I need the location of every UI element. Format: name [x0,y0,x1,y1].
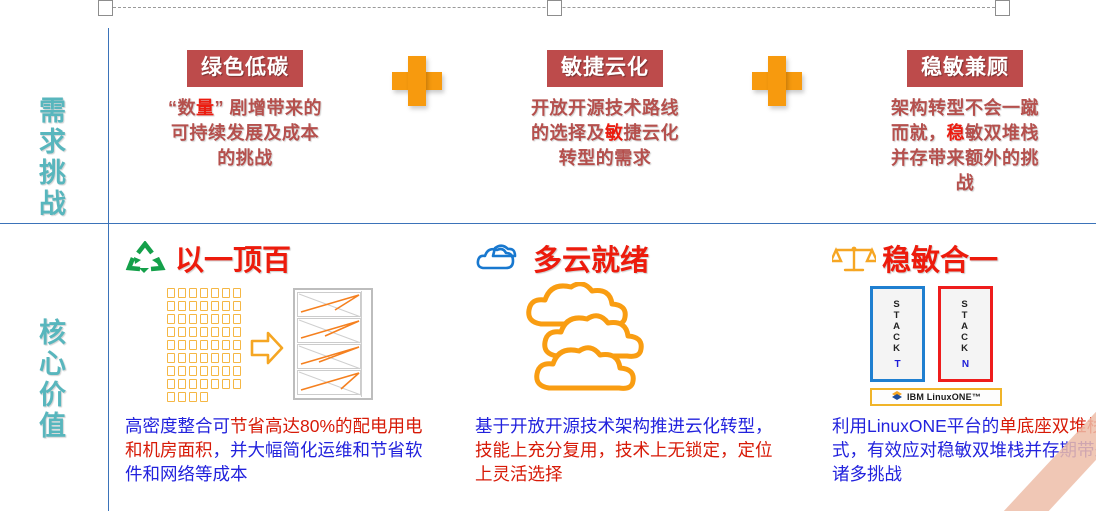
horizontal-divider [0,223,1096,224]
challenge-badge: 稳敏兼顾 [907,50,1023,87]
stack-tag-t: T [873,359,922,370]
stack-char: C [941,332,990,343]
challenge-badge: 敏捷云化 [547,50,663,87]
plus-icon [392,56,442,106]
rail-char: 战 [14,189,92,220]
slide-canvas: 需 求 挑 战 核 心 价 值 绿色低碳 “数量” 剧增带来的可持续发展及成本的… [0,0,1096,511]
stack-box-n: S T A C K N [938,286,993,382]
challenge-badge: 绿色低碳 [187,50,303,87]
rail-char: 求 [14,127,92,158]
value-title: 以一顶百 [175,245,291,277]
stack-char: C [873,332,922,343]
challenge-body: 架构转型不会一蹴而就，稳敏双堆栈并存带来额外的挑战 [885,96,1045,196]
value-heading: 以一顶百 [125,240,425,282]
value-body: 基于开放开源技术架构推进云化转型，技能上充分复用，技术上无锁定，定位上灵活选择 [475,414,775,486]
vertical-divider [108,28,109,511]
rail-char: 值 [14,411,92,442]
rail-label-core-value: 核 心 价 值 [14,318,92,442]
rail-char: 核 [14,318,92,349]
art-dual-stack-linuxone: S T A C K T S T A C K [832,282,1096,406]
body-pre: “数 [168,98,196,118]
selection-bracket[interactable] [98,0,1010,16]
body-highlight: 量 [196,98,215,118]
linuxone-label: IBM LinuxONE™ [907,392,981,402]
stack-char: A [941,321,990,332]
body-highlight: 敏 [605,123,624,143]
value-title: 稳敏合一 [882,245,998,277]
challenge-card-stable-agile: 稳敏兼顾 架构转型不会一蹴而就，稳敏双堆栈并存带来额外的挑战 [885,50,1045,196]
recycle-icon [125,241,169,282]
value-body: 高密度整合可节省高达80%的配电用电和机房面积，并大幅简化运维和节省软件和网络等… [125,414,425,486]
value-card-multicloud: 多云就绪 基于开放开源技术架构推进云化转型，技能上充分复用，技术上无锁定，定位上… [475,240,775,486]
art-server-grid-to-rack [125,282,425,406]
body-pre: 基于开放开源技术架构推进云化转型， [475,416,773,436]
value-card-consolidation: 以一顶百 [125,240,425,486]
arrow-right-icon [250,330,284,366]
stack-label-t: S T A C K [873,299,922,354]
value-card-dual-stack: 稳敏合一 S T A C K T S T [832,240,1096,486]
rail-label-demand-challenge: 需 求 挑 战 [14,96,92,220]
selection-handle-center[interactable] [547,0,562,16]
stack-char: T [941,310,990,321]
selection-handle-left[interactable] [98,0,113,16]
body-pre: 利用LinuxONE平台的 [832,416,999,436]
stack-tag-n: N [941,359,990,370]
rail-char: 需 [14,96,92,127]
balance-scale-icon [832,242,876,281]
selection-handle-right[interactable] [995,0,1010,16]
linuxone-platform-bar: IBM LinuxONE™ [870,388,1002,406]
art-stacked-clouds [475,282,775,406]
challenge-card-green-low-carbon: 绿色低碳 “数量” 剧增带来的可持续发展及成本的挑战 [165,50,325,171]
rail-char: 挑 [14,158,92,189]
plus-icon [752,56,802,106]
value-title: 多云就绪 [533,245,649,277]
server-grid [165,286,242,403]
stack-char: K [873,343,922,354]
body-highlight: 技能上充分复用，技术上无锁定，定位上灵活选择 [475,440,773,484]
challenge-body: “数量” 剧增带来的可持续发展及成本的挑战 [165,96,325,171]
stack-char: T [873,310,922,321]
value-heading: 多云就绪 [475,240,775,282]
body-pre: 高密度整合可 [125,416,230,436]
stack-label-n: S T A C K [941,299,990,354]
cloud-icon [475,242,527,281]
stack-box-t: S T A C K T [870,286,925,382]
value-body: 利用LinuxONE平台的单底座双堆栈模式，有效应对稳敏双堆栈并存期带来的诸多挑… [832,414,1096,486]
server-rack [293,288,373,400]
stack-char: S [873,299,922,310]
challenge-body: 开放开源技术路线的选择及敏捷云化转型的需求 [525,96,685,171]
value-heading: 稳敏合一 [832,240,1096,282]
body-highlight: 稳 [947,123,966,143]
linuxone-logo-icon [891,390,903,404]
stack-char: K [941,343,990,354]
body-highlight: 单底座双堆栈 [999,416,1096,436]
stack-char: S [941,299,990,310]
stack-char: A [873,321,922,332]
rail-char: 价 [14,380,92,411]
challenge-card-agile-cloud: 敏捷云化 开放开源技术路线的选择及敏捷云化转型的需求 [525,50,685,171]
rail-char: 心 [14,349,92,380]
